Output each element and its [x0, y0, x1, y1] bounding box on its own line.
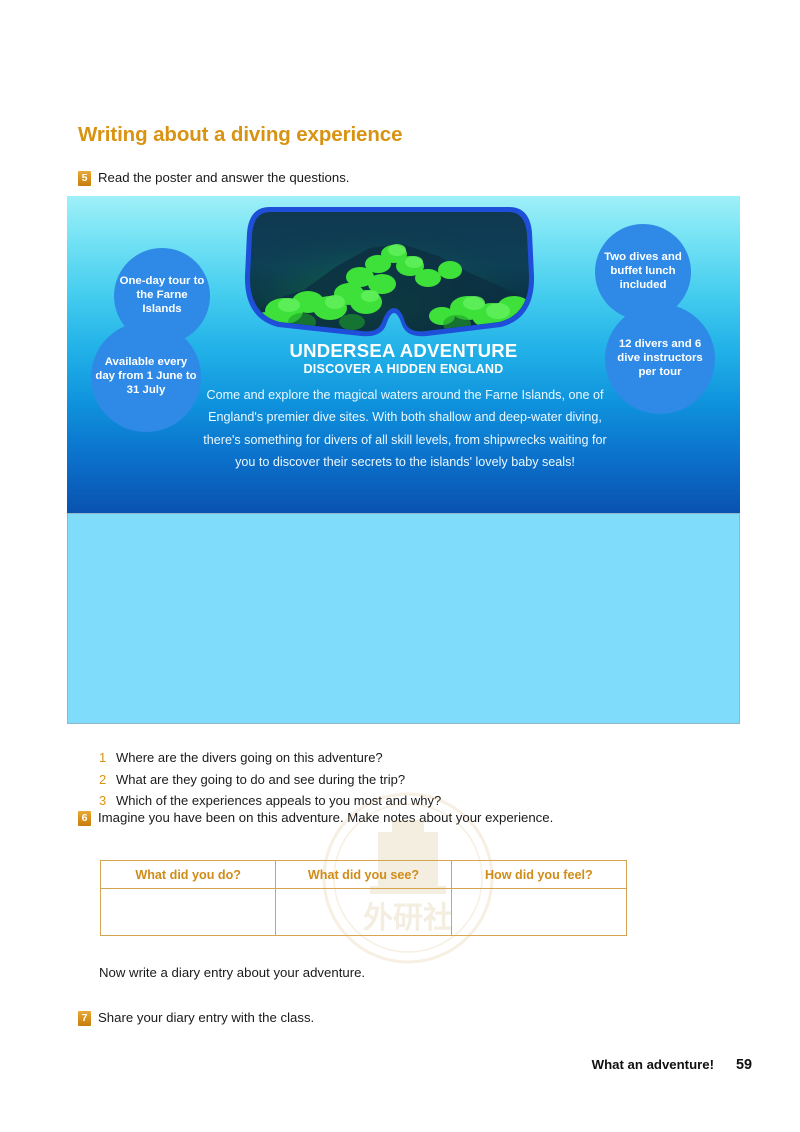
exercise-7-text: Share your diary entry with the class.: [98, 1010, 314, 1025]
table-answer-cell[interactable]: [101, 889, 276, 936]
poster-bottom-panel: WRECK DIVING:: [67, 513, 740, 724]
now-write-instruction: Now write a diary entry about your adven…: [99, 965, 365, 980]
diving-poster: One-day tour to the Farne Islands Availa…: [67, 196, 740, 724]
table-header-cell: What did you do?: [101, 861, 276, 889]
question-number: 2: [99, 772, 112, 787]
diving-mask-coral-reef-image: [242, 204, 536, 342]
table-header-cell: What did you see?: [276, 861, 451, 889]
notes-table: What did you do? What did you see? How d…: [100, 860, 627, 936]
poster-body-text: Come and explore the magical waters arou…: [195, 384, 615, 474]
exercise-7-instruction: 7Share your diary entry with the class.: [78, 1010, 314, 1026]
question-text: What are they going to do and see during…: [116, 772, 405, 787]
exercise-number-badge-6: 6: [78, 811, 91, 826]
exercise-6-instruction: 6Imagine you have been on this adventure…: [78, 810, 553, 826]
question-number: 3: [99, 793, 112, 808]
exercise-5-instruction: 5Read the poster and answer the question…: [78, 170, 349, 186]
bubble-availability: Available every day from 1 June to 31 Ju…: [91, 322, 201, 432]
table-header-cell: How did you feel?: [451, 861, 626, 889]
questions-list: 1Where are the divers going on this adve…: [99, 750, 441, 815]
table-header-row: What did you do? What did you see? How d…: [101, 861, 627, 889]
question-text: Where are the divers going on this adven…: [116, 750, 383, 765]
table-answer-cell[interactable]: [276, 889, 451, 936]
question-item: 1Where are the divers going on this adve…: [99, 750, 441, 772]
page-title: Writing about a diving experience: [78, 123, 402, 147]
table-row: [101, 889, 627, 936]
exercise-6-text: Imagine you have been on this adventure.…: [98, 810, 553, 825]
mask-lens: [242, 204, 536, 342]
poster-subtitle: DISCOVER A HIDDEN ENGLAND: [67, 362, 740, 376]
question-number: 1: [99, 750, 112, 765]
footer-unit-title: What an adventure!: [592, 1057, 714, 1072]
question-item: 2What are they going to do and see durin…: [99, 772, 441, 794]
table-answer-cell[interactable]: [451, 889, 626, 936]
question-text: Which of the experiences appeals to you …: [116, 793, 441, 808]
footer-page-number: 59: [736, 1057, 752, 1073]
poster-title: UNDERSEA ADVENTURE: [67, 340, 740, 362]
page-footer: What an adventure! 59: [0, 1057, 800, 1077]
exercise-number-badge-5: 5: [78, 171, 91, 186]
poster-top-gradient-panel: One-day tour to the Farne Islands Availa…: [67, 196, 740, 513]
exercise-number-badge-7: 7: [78, 1011, 91, 1026]
exercise-5-text: Read the poster and answer the questions…: [98, 170, 349, 185]
